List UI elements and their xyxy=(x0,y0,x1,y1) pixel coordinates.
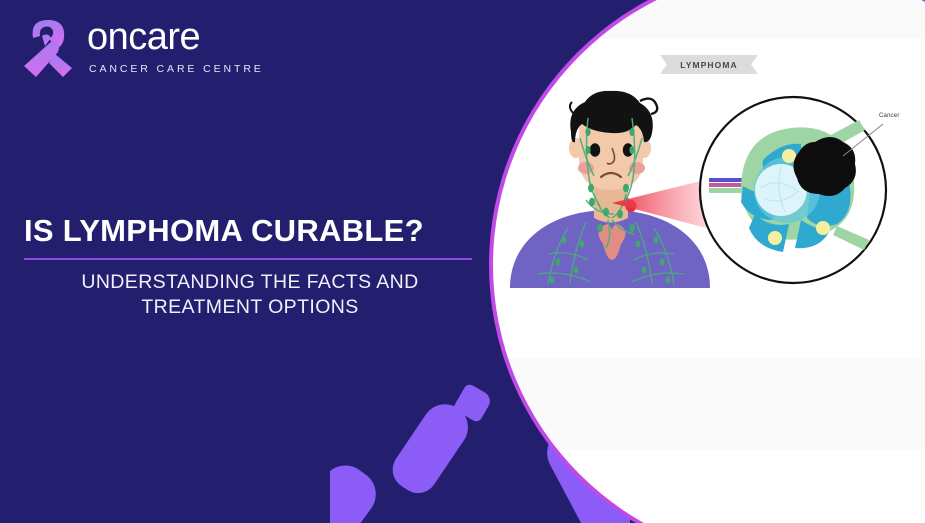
blog-banner: LYMPHOMA xyxy=(0,0,925,523)
brand-tagline: CANCER CARE CENTRE xyxy=(87,63,264,75)
lymph-node-diagram xyxy=(697,94,889,286)
ribbon-band-1 xyxy=(385,395,477,500)
cancer-annotation-label: Cancer xyxy=(879,113,900,119)
headline-block: IS LYMPHOMA CURABLE? UNDERSTANDING THE F… xyxy=(24,214,476,320)
cancer-ribbon-icon xyxy=(22,16,74,78)
soft-panel-bottom xyxy=(493,359,925,449)
ribbon-band-3 xyxy=(330,456,385,523)
page-title: IS LYMPHOMA CURABLE? xyxy=(24,214,476,249)
logo-wordmark: oncare CANCER CARE CENTRE xyxy=(87,19,264,74)
page-subtitle: UNDERSTANDING THE FACTS AND TREATMENT OP… xyxy=(24,270,476,321)
soft-panel-top xyxy=(493,0,925,39)
title-divider xyxy=(24,258,472,260)
brand-logo[interactable]: oncare CANCER CARE CENTRE xyxy=(22,16,264,78)
brand-name: oncare xyxy=(87,19,264,55)
lymphoma-banner-label: LYMPHOMA xyxy=(660,55,758,74)
ribbon-band-2 xyxy=(453,383,494,424)
